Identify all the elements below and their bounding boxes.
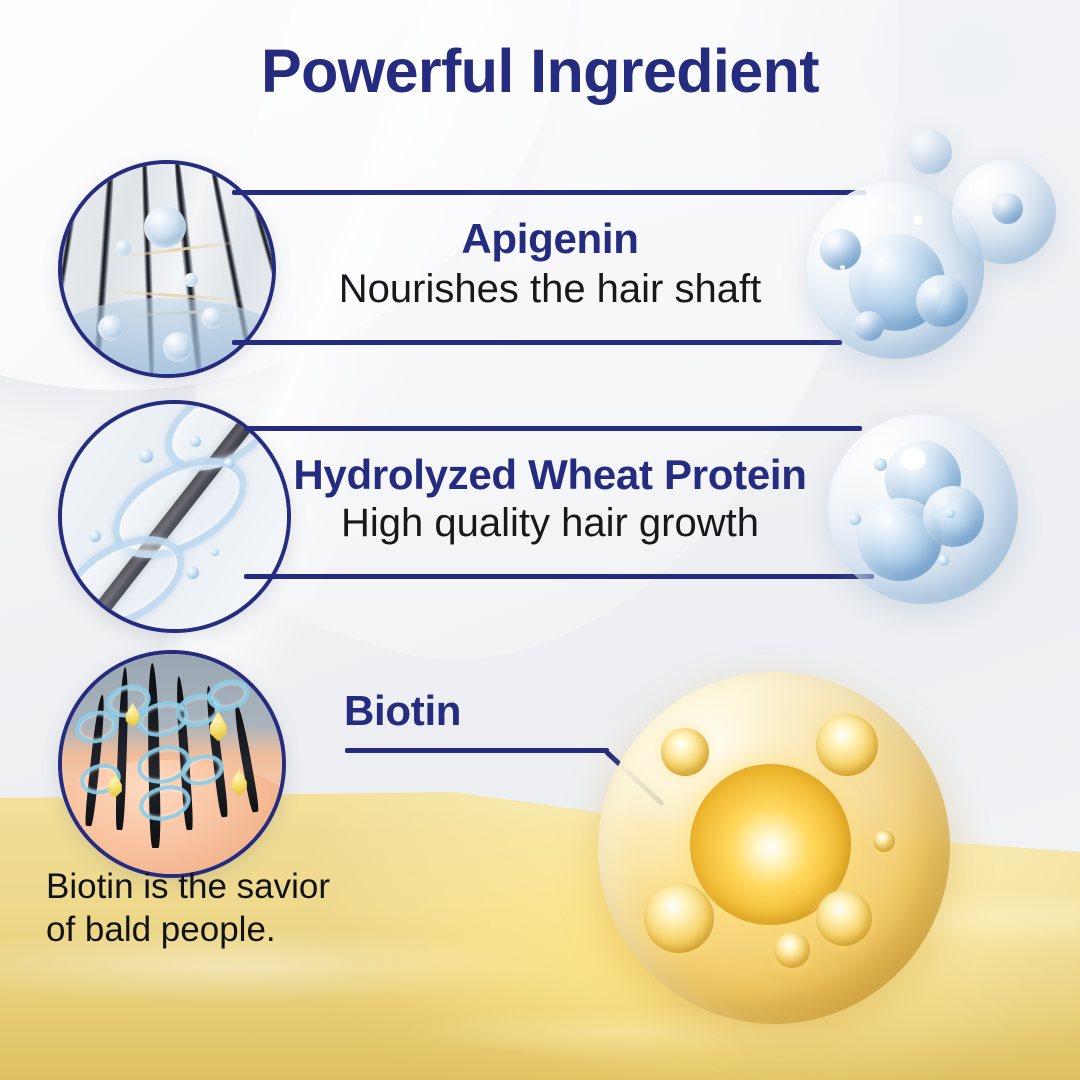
connector-line-apigenin-top [232,190,866,195]
caption-line-1: Biotin is the savior [46,866,486,909]
ingredient-description: High quality hair growth [222,501,878,546]
golden-oil-sphere-graphic [598,672,950,1024]
caption-line-2: of bald people. [46,909,486,952]
ingredient-thumbnail-biotin [58,650,286,878]
biotin-caption: Biotin is the savior of bald people. [46,866,486,951]
connector-line-apigenin-bottom [232,340,842,345]
connector-line-wheat-protein-top [244,426,862,431]
ingredient-block-biotin: Biotin [344,688,684,733]
ingredient-description: Nourishes the hair shaft [230,267,870,312]
scalp-follicles-illustration [62,654,282,874]
connector-line-biotin-horizontal [345,748,609,753]
blue-sphere-with-inner-bubbles-graphic [828,414,1018,604]
page-title: Powerful Ingredient [0,36,1080,106]
ingredient-name: Apigenin [230,216,870,261]
background-soft-blob [114,0,1006,752]
ingredient-infographic-poster: Powerful Ingredient Apigenin Nourishes t… [0,0,1080,1080]
bubble-medium [952,160,1056,264]
ingredient-block-hydrolyzed-wheat-protein: Hydrolyzed Wheat Protein High quality ha… [222,452,878,546]
bubble-small [908,130,952,174]
connector-line-wheat-protein-bottom [244,574,874,579]
ingredient-block-apigenin: Apigenin Nourishes the hair shaft [230,216,870,312]
ingredient-name: Biotin [344,688,684,733]
ingredient-name: Hydrolyzed Wheat Protein [222,452,878,497]
